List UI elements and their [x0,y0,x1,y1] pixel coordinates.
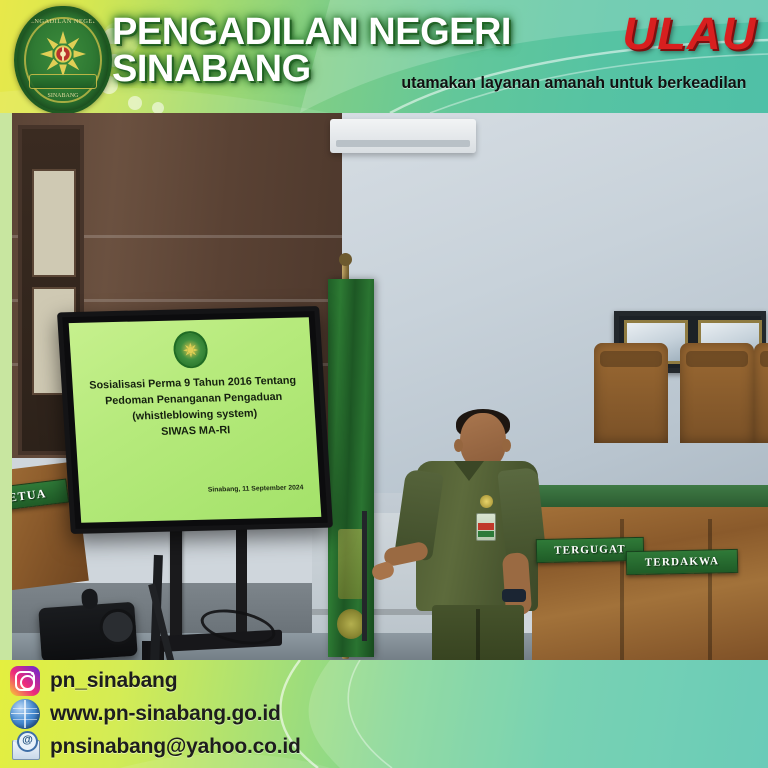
footer-banner: pn_sinabang www.pn-sinabang.go.id @ pnsi… [0,660,768,768]
crest-bottom-text: SINABANG [17,93,109,99]
photo-air-conditioner [330,119,476,153]
website-url: www.pn-sinabang.go.id [50,702,281,726]
contact-website[interactable]: www.pn-sinabang.go.id [10,697,301,730]
photo-speaker [398,413,548,665]
instagram-handle: pn_sinabang [50,669,177,693]
email-icon: @ [10,732,40,762]
header-banner: PENGADILAN NEGERI SINABANG PENGADILAN NE… [0,0,768,113]
globe-icon [10,699,40,729]
poster-canvas: PENGADILAN NEGERI SINABANG PENGADILAN NE… [0,0,768,768]
photo-chair [594,343,668,443]
slide-crest-icon [172,331,208,369]
photo-bench [532,491,768,665]
photo-chair [680,343,754,443]
presentation-screen: Sosialisasi Perma 9 Tahun 2016 Tentang P… [57,306,333,534]
court-crest-icon: PENGADILAN NEGERI SINABANG [14,6,112,113]
plaque-terdakwa: TERDAKWA [626,549,738,575]
crest-star-icon [40,31,86,77]
header-tagline: utamakan layanan amanah untuk berkeadila… [402,74,747,93]
slide-title: Sosialisasi Perma 9 Tahun 2016 Tentang P… [80,373,308,442]
event-photograph: M KETUA [12,113,768,665]
photo-mic-stand [362,511,367,641]
photo-bench-top-green [532,485,768,507]
id-badge [476,513,496,541]
photo-flag-knob [339,253,352,266]
photo-chair [754,343,768,443]
title-line-1: PENGADILAN NEGERI [112,11,511,53]
email-address: pnsinabang@yahoo.co.id [50,735,301,759]
photo-court-flag [328,279,374,657]
slide-date: Sinabang, 11 September 2024 [208,484,304,493]
slide-surface: Sosialisasi Perma 9 Tahun 2016 Tentang P… [69,317,322,522]
contact-list: pn_sinabang www.pn-sinabang.go.id @ pnsi… [10,664,301,763]
brand-ulau: ULAU [622,8,756,60]
contact-email[interactable]: @ pnsinabang@yahoo.co.id [10,730,301,763]
uniform-emblem-icon [480,495,493,508]
contact-instagram[interactable]: pn_sinabang [10,664,301,697]
crest-top-text: PENGADILAN NEGERI [17,18,109,25]
photo-tv-stand-post [170,523,182,645]
slide-star-icon [183,342,199,357]
wristwatch [502,589,526,602]
instagram-icon [10,666,40,696]
photo-video-camera [38,602,138,663]
